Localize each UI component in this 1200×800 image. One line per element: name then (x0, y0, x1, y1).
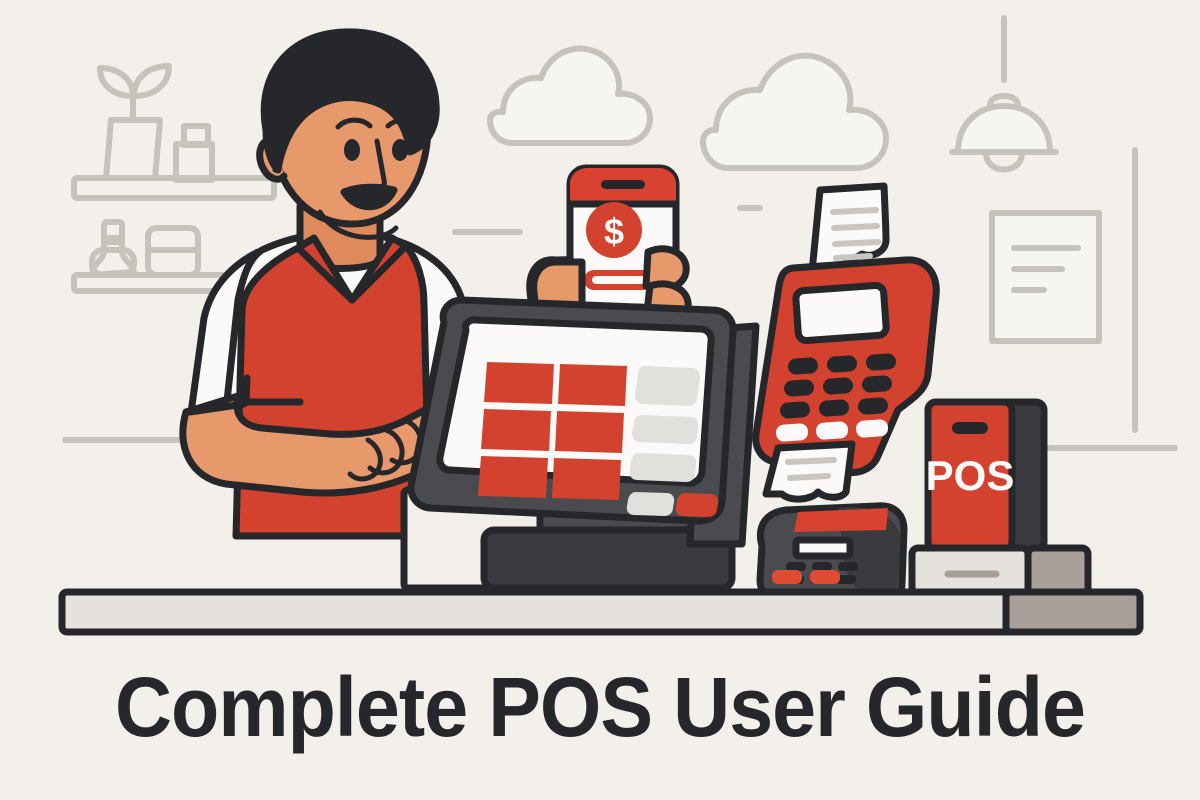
phone-speaker (601, 180, 645, 189)
dollar-sign-label: $ (604, 211, 624, 252)
pos-primary-button (676, 493, 718, 517)
wall-poster-icon (992, 213, 1099, 341)
eye-left (344, 139, 360, 161)
checkout-counter (62, 592, 1140, 632)
receipt-paper-bottom (766, 444, 852, 499)
pos-secondary-button (627, 492, 674, 516)
pos-hero-illustration: .ink { stroke:#26272B; stroke-width:7; s… (0, 0, 1200, 800)
illustration-canvas: .ink { stroke:#26272B; stroke-width:7; s… (0, 0, 1200, 800)
handheld-card-reader (760, 506, 904, 598)
pos-shopping-bag: POS (926, 402, 1044, 550)
pos-bag-label: POS (926, 452, 1015, 499)
eye-right (392, 139, 408, 161)
